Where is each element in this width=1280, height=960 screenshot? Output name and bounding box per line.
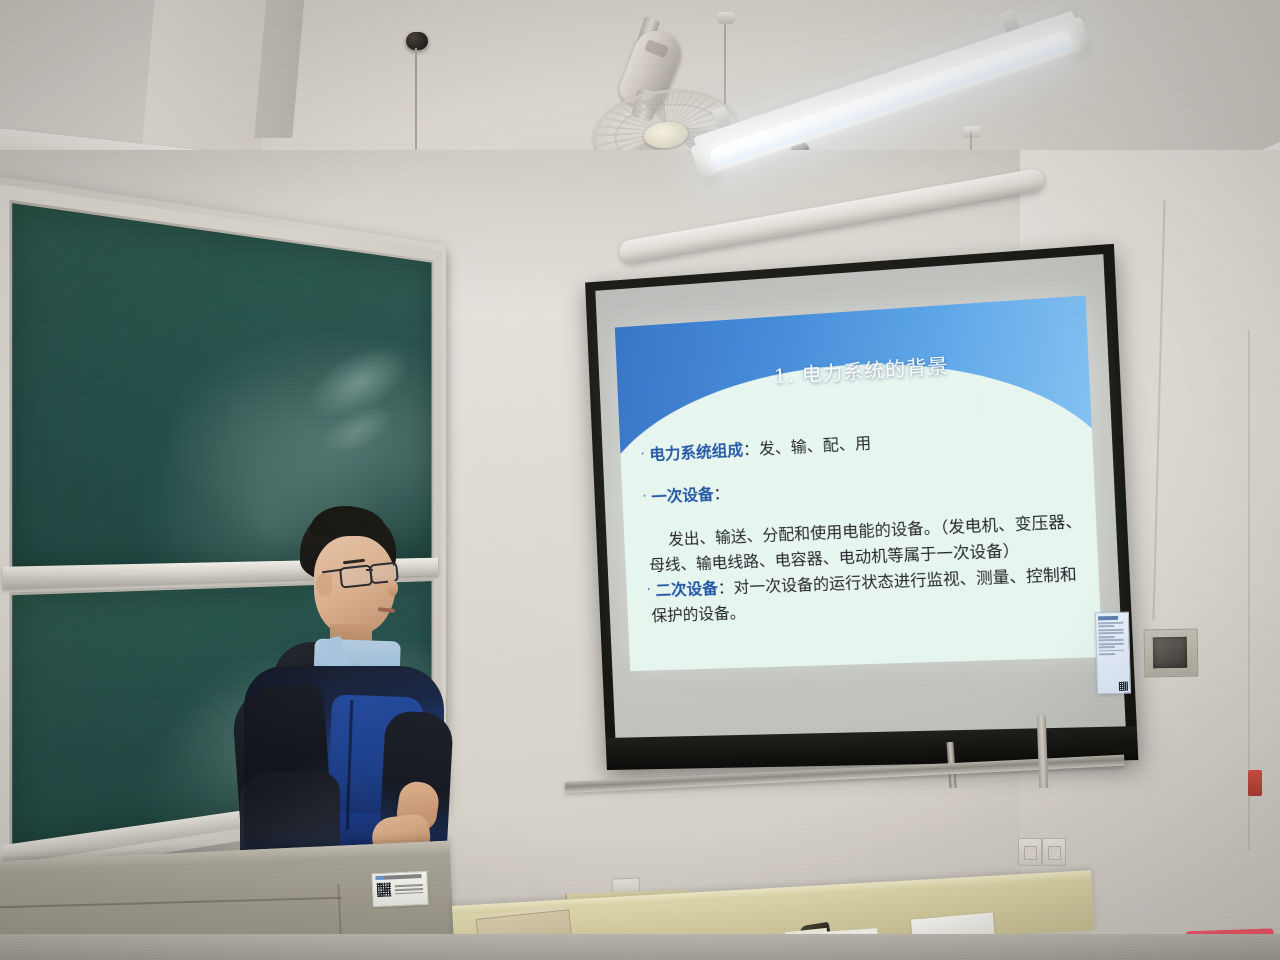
wall-access-panel[interactable]	[1144, 629, 1199, 678]
notice-text-row	[1099, 639, 1124, 641]
notice-text-row	[1099, 653, 1115, 655]
qr-code-icon	[1119, 682, 1128, 691]
projection-screen-surface: 1. 电力系统的背景 ·电力系统组成：发、输、配、用 ·一次设备： 发出、输送、…	[595, 254, 1125, 738]
notice-text-row	[1099, 636, 1115, 638]
blackboard-glare-upper	[300, 332, 416, 434]
slide-key-composition: 电力系统组成	[649, 441, 744, 464]
slide-body: ·电力系统组成：发、输、配、用 ·一次设备： 发出、输送、分配和使用电能的设备。…	[640, 421, 1085, 663]
slide-key-primary: 一次设备	[651, 485, 714, 506]
slide-text-composition: 发、输、配、用	[759, 434, 872, 458]
asset-tag-lines	[395, 882, 424, 897]
nose	[388, 580, 398, 596]
blackboard-glare-secondary	[318, 396, 399, 464]
lecturer[interactable]	[222, 500, 472, 900]
asset-tag-header	[375, 874, 421, 880]
wall-switch-plate-right[interactable]	[1042, 838, 1066, 866]
wall-notice-sheet[interactable]	[1095, 612, 1131, 695]
floor-strip	[0, 934, 1280, 960]
ear	[316, 574, 332, 596]
switch-rocker-icon[interactable]	[1048, 846, 1061, 860]
switch-rocker-icon[interactable]	[1024, 846, 1037, 860]
hair-fringe	[310, 506, 386, 536]
notice-text-row	[1099, 646, 1115, 648]
notice-text-row	[1098, 629, 1123, 631]
notice-header-bar	[1098, 616, 1118, 621]
notice-text-row	[1098, 622, 1123, 624]
wall-switch-plate-left[interactable]	[1018, 838, 1042, 866]
notice-text-row	[1099, 650, 1124, 652]
notice-text-row	[1098, 625, 1114, 627]
projection-screen[interactable]: 1. 电力系统的背景 ·电力系统组成：发、输、配、用 ·一次设备： 发出、输送、…	[585, 244, 1138, 770]
classroom-photo: 1. 电力系统的背景 ·电力系统组成：发、输、配、用 ·一次设备： 发出、输送、…	[0, 0, 1280, 960]
wall-access-panel-window	[1153, 637, 1188, 669]
podium-asset-tag[interactable]	[371, 871, 428, 907]
slide-sep-primary: ：	[713, 485, 730, 504]
slide-sep-composition: ：	[743, 440, 760, 459]
slide-key-secondary: 二次设备	[655, 579, 718, 600]
qr-code-icon	[377, 882, 392, 897]
presentation-slide: 1. 电力系统的背景 ·电力系统组成：发、输、配、用 ·一次设备： 发出、输送、…	[615, 295, 1103, 671]
hanger-rod-left	[415, 48, 417, 166]
notice-text-row	[1098, 632, 1123, 634]
notice-text-row	[1099, 643, 1124, 645]
wall-alarm-strip	[1248, 770, 1262, 796]
slide-sep-secondary: ：	[717, 579, 734, 598]
podium-panel-seam	[0, 897, 342, 909]
ceiling-mount-point-left	[406, 32, 428, 50]
